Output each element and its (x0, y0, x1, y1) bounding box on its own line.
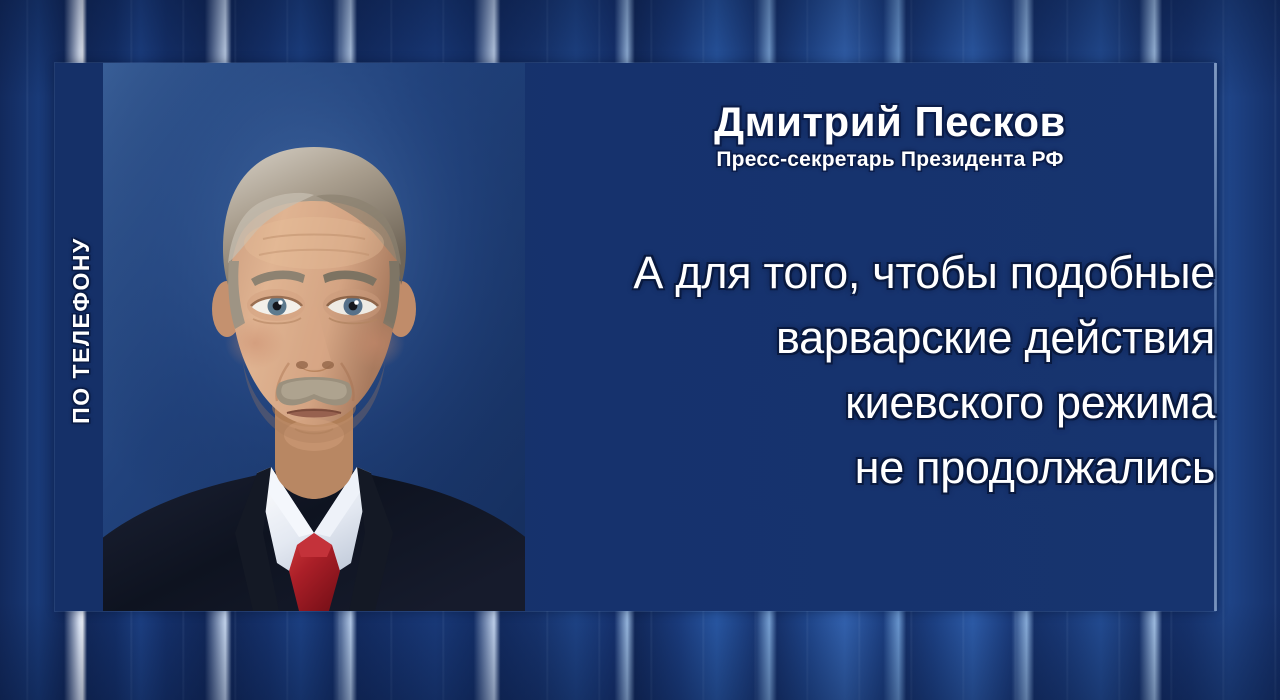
phone-source-strip: ПО ТЕЛЕФОНУ (58, 180, 104, 480)
speaker-role: Пресс-секретарь Президента РФ (560, 148, 1220, 172)
quote-line: варварские действия (560, 305, 1215, 370)
phone-source-label: ПО ТЕЛЕФОНУ (68, 237, 95, 424)
quote-block: А для того, чтобы подобные варварские де… (560, 240, 1215, 500)
broadcast-lower-third: ПО ТЕЛЕФОНУ (0, 0, 1280, 700)
portrait-illustration (103, 63, 525, 611)
quote-line: не продолжались (560, 435, 1215, 500)
quote-line: киевского режима (560, 370, 1215, 435)
quote-line: А для того, чтобы подобные (560, 240, 1215, 305)
speaker-portrait (103, 63, 525, 611)
speaker-name: Дмитрий Песков (560, 98, 1220, 146)
